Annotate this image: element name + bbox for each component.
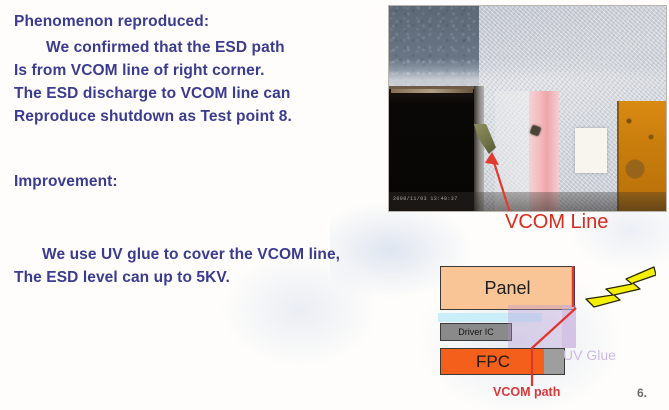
improvement-heading: Improvement: — [14, 170, 118, 193]
phenomenon-line-3: The ESD discharge to VCOM line can — [14, 82, 290, 105]
phenomenon-line-1: We confirmed that the ESD path — [46, 36, 285, 59]
phenomenon-heading: Phenomenon reproduced: — [14, 10, 209, 33]
slide-canvas: Phenomenon reproduced: We confirmed that… — [0, 0, 669, 410]
vcom-line-label: VCOM Line — [505, 211, 608, 234]
esd-lightning-bolt — [580, 265, 656, 315]
esd-failure-photo: 2008/11/03 13:48:37 — [388, 5, 667, 212]
improvement-line-1: We use UV glue to cover the VCOM line, — [42, 243, 340, 266]
phenomenon-line-4: Reproduce shutdown as Test point 8. — [14, 105, 292, 128]
page-number: 6. — [637, 386, 647, 400]
vcom-path-label: VCOM path — [493, 385, 560, 399]
photo-callout-arrow — [389, 6, 666, 211]
improvement-line-2: The ESD level can up to 5KV. — [14, 266, 230, 289]
phenomenon-line-2: Is from VCOM line of right corner. — [14, 59, 265, 82]
uv-glue-label: UV Glue — [563, 347, 616, 363]
